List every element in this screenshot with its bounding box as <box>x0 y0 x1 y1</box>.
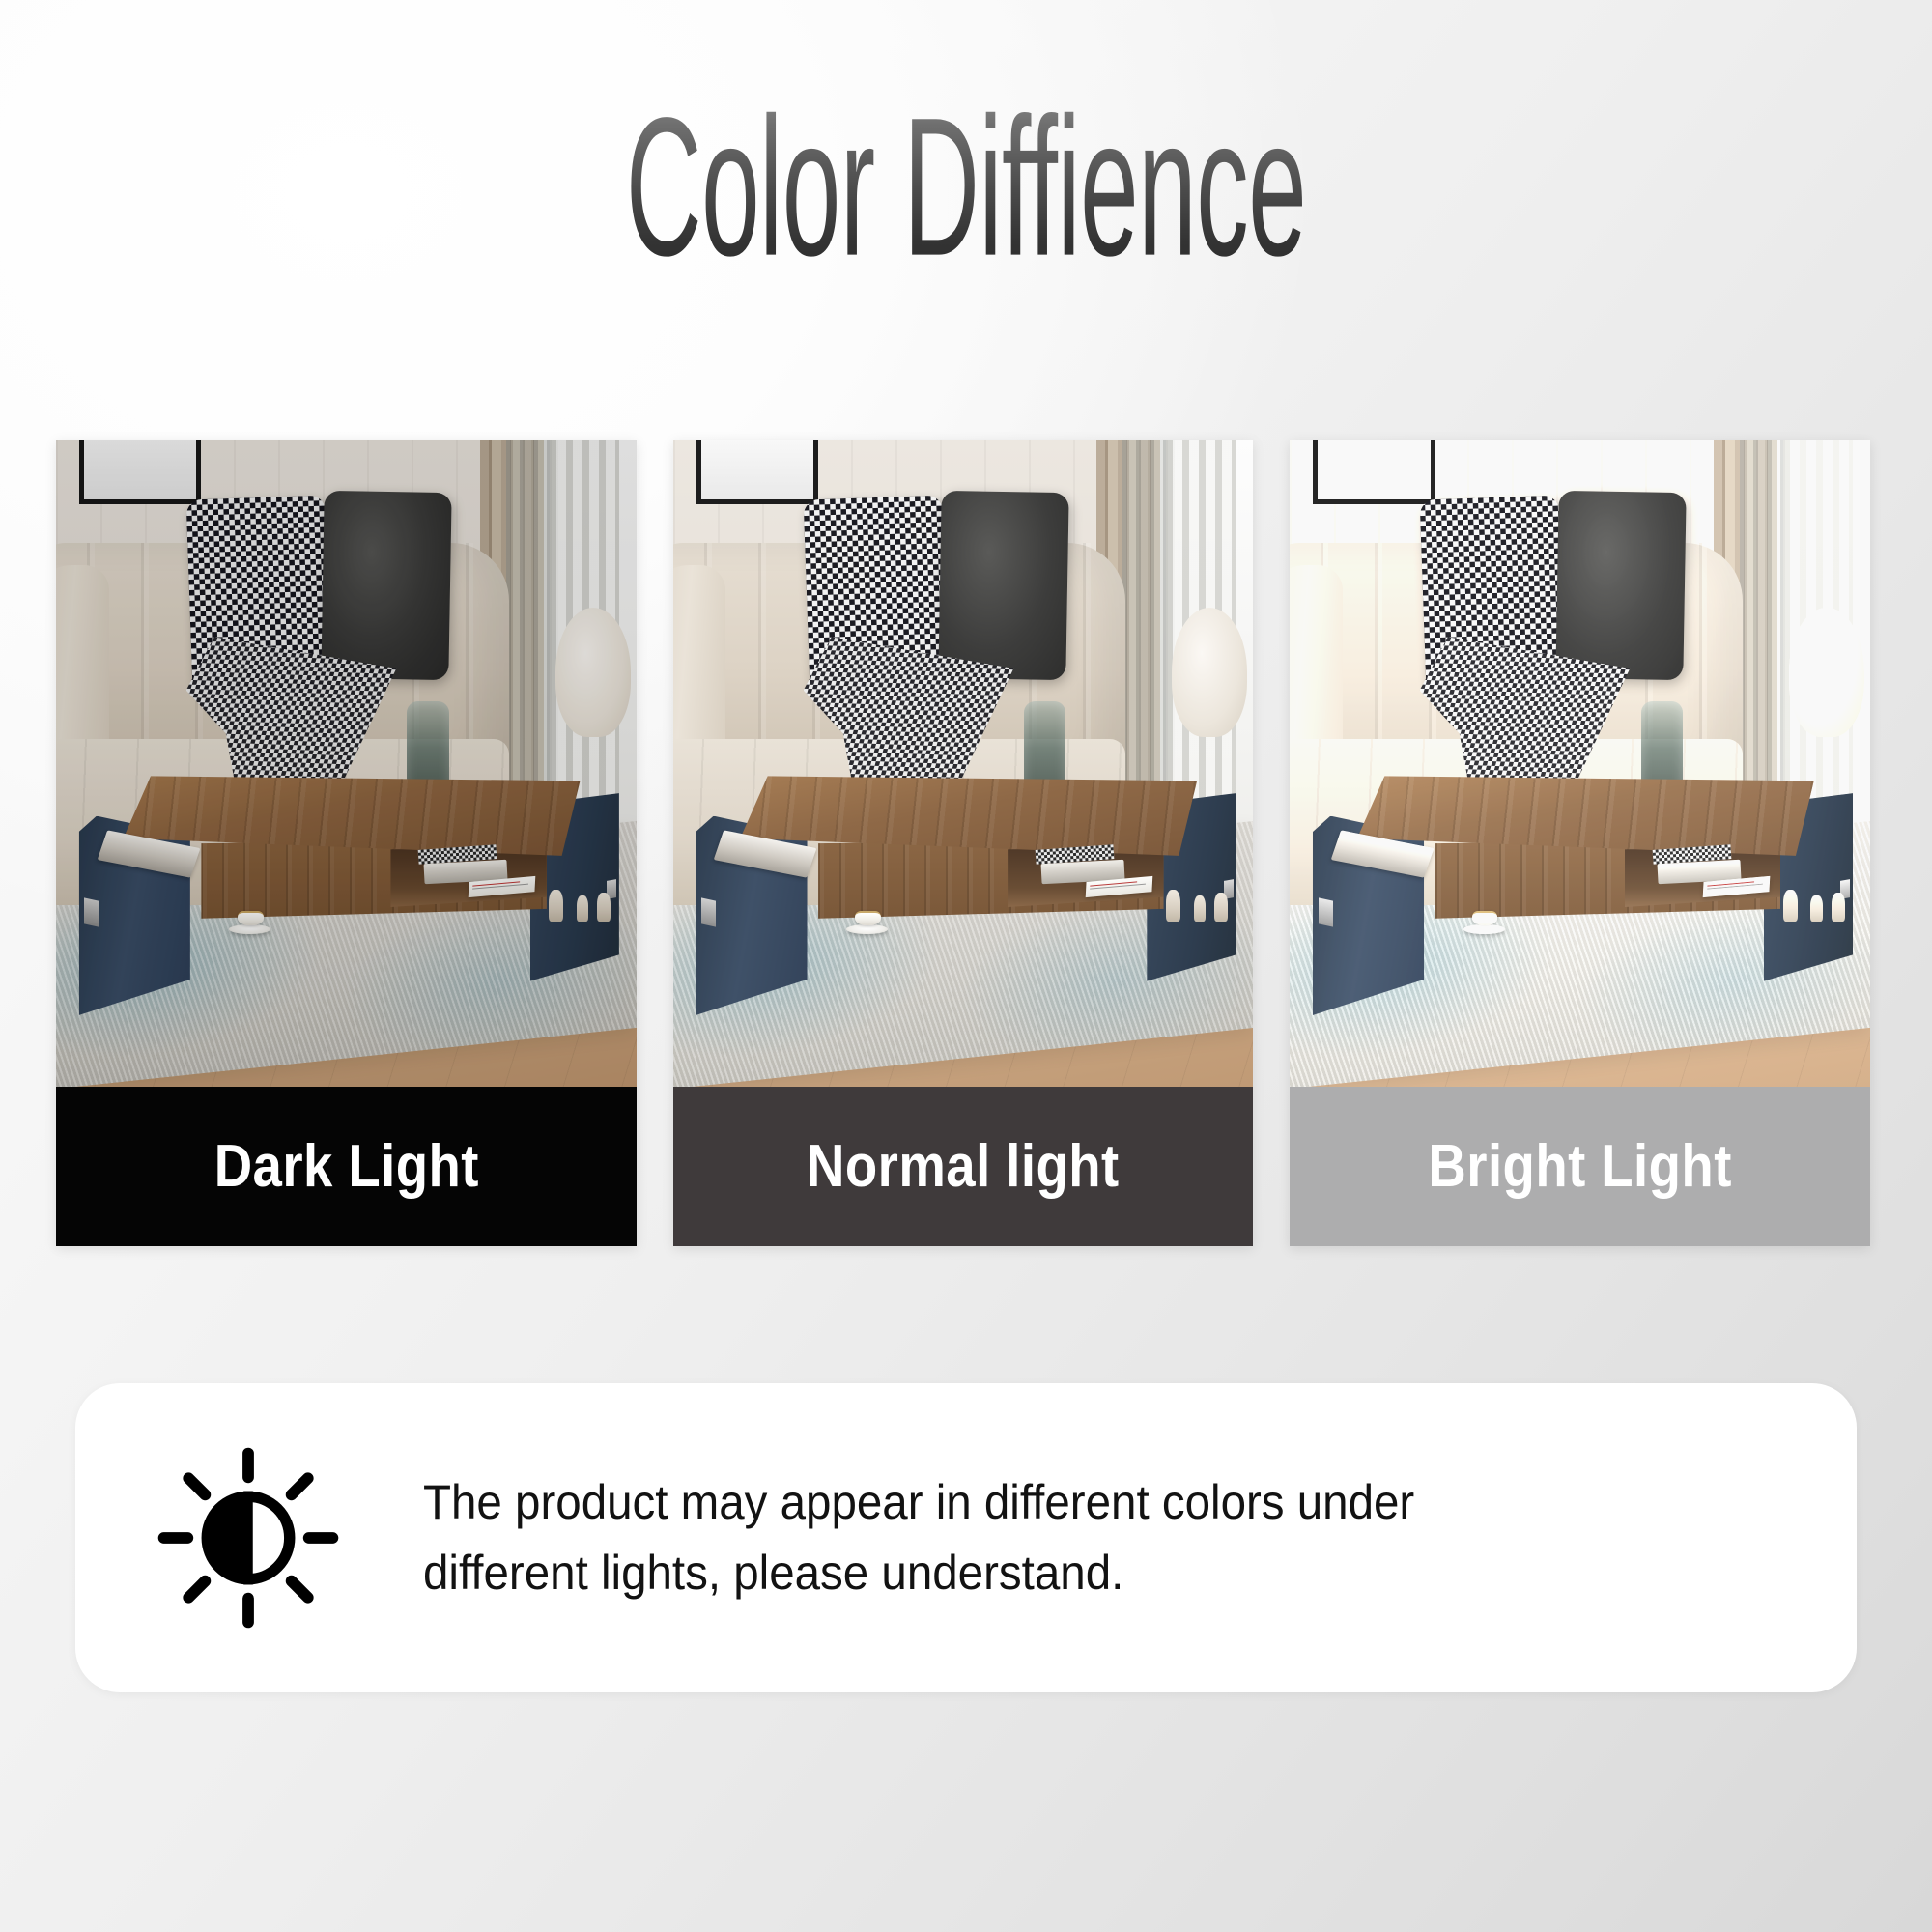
panel-label-bar-normal-light: Normal light <box>673 1087 1254 1246</box>
page-title: Color Diffience <box>626 89 1306 286</box>
decor-bottle <box>577 895 588 922</box>
panel-label-bar-bright-light: Bright Light <box>1290 1087 1870 1246</box>
teacup <box>238 911 264 925</box>
gray-pillow <box>322 490 453 680</box>
notice-text-line-1: The product may appear in different colo… <box>423 1467 1414 1538</box>
room-scene <box>56 440 637 1087</box>
coffee-table <box>1301 776 1859 1061</box>
comparison-panel-normal-light[interactable]: Normal light <box>673 440 1254 1246</box>
accent-chair <box>1789 608 1864 737</box>
product-photo-bright-light <box>1290 440 1870 1087</box>
accent-chair <box>555 608 631 737</box>
decor-bottle <box>1783 890 1798 921</box>
product-photo-normal-light <box>673 440 1254 1087</box>
decor-bottle <box>1166 890 1180 921</box>
coffee-table <box>68 776 625 1061</box>
comparison-panel-bright-light[interactable]: Bright Light <box>1290 440 1870 1246</box>
table-top <box>740 776 1197 856</box>
panel-label-normal-light: Normal light <box>807 1132 1120 1201</box>
saucer <box>229 924 270 934</box>
gray-pillow <box>938 490 1069 680</box>
decor-bottle <box>1214 893 1228 921</box>
teacup <box>1472 911 1498 925</box>
notice-text-line-2: different lights, please understand. <box>423 1538 1414 1608</box>
table-top <box>124 776 581 856</box>
decor-bottle <box>1832 893 1845 921</box>
decor-bottle <box>597 893 611 921</box>
gray-pillow <box>1555 490 1687 680</box>
saucer <box>846 924 888 934</box>
comparison-panel-row: Dark Light <box>56 440 1870 1246</box>
room-scene <box>1290 440 1870 1087</box>
framed-artwork <box>79 440 201 504</box>
page-title-container: Color Diffience <box>0 89 1932 259</box>
decor-bottle <box>1810 895 1822 922</box>
notice-card: The product may appear in different colo… <box>75 1383 1857 1692</box>
notice-text: The product may appear in different colo… <box>423 1467 1414 1608</box>
panel-label-bright-light: Bright Light <box>1428 1132 1731 1201</box>
coffee-table <box>685 776 1242 1061</box>
saucer <box>1463 924 1505 934</box>
comparison-panel-dark-light[interactable]: Dark Light <box>56 440 637 1246</box>
table-top <box>1357 776 1814 856</box>
decor-bottle <box>549 890 563 921</box>
room-scene <box>673 440 1254 1087</box>
panel-label-bar-dark-light: Dark Light <box>56 1087 637 1246</box>
decor-bottle <box>1194 895 1206 922</box>
panel-label-dark-light: Dark Light <box>213 1132 478 1201</box>
accent-chair <box>1172 608 1247 737</box>
framed-artwork <box>696 440 818 504</box>
framed-artwork <box>1313 440 1435 504</box>
product-photo-dark-light <box>56 440 637 1087</box>
brightness-half-sun-icon <box>156 1446 340 1630</box>
teacup <box>855 911 881 925</box>
